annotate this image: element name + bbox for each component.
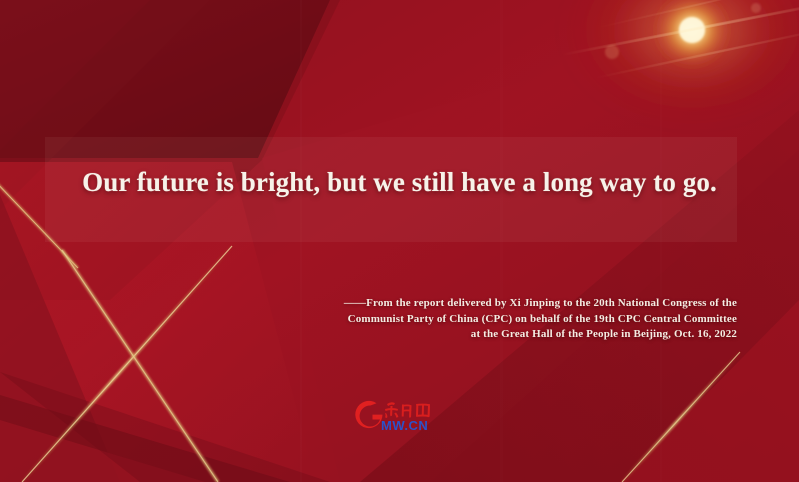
guangming-online-logo[interactable]: MW.CN [352, 396, 444, 434]
attribution-line-2: Communist Party of China (CPC) on behalf… [217, 312, 737, 328]
page-title: Our future is bright, but we still have … [0, 165, 799, 199]
attribution-line-3: at the Great Hall of the People in Beiji… [217, 327, 737, 343]
logo-g-mark [355, 401, 382, 428]
svg-text:MW.CN: MW.CN [381, 418, 428, 433]
attribution-line-1: ——From the report delivered by Xi Jinpin… [217, 296, 737, 312]
poster-canvas: Our future is bright, but we still have … [0, 0, 799, 482]
logo-chinese-characters [385, 402, 430, 418]
logo-wordmark: MW.CN [381, 418, 428, 433]
attribution-block: ——From the report delivered by Xi Jinpin… [217, 296, 737, 343]
